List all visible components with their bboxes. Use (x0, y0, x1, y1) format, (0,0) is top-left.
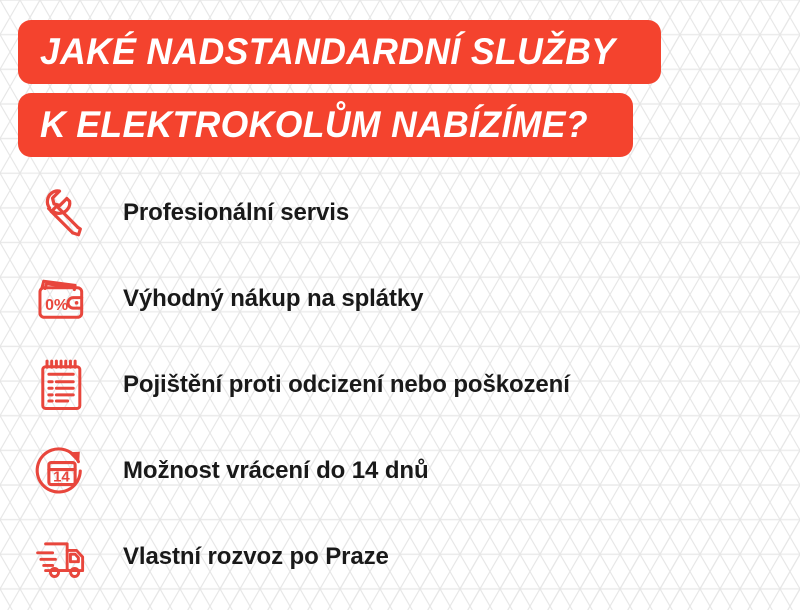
headline-text-line-1: JAKÉ NADSTANDARDNÍ SLUŽBY (40, 33, 615, 70)
feature-row-service: Profesionální servis (0, 170, 800, 256)
return-icon-text: 14 (53, 468, 70, 485)
feature-label-return: Možnost vrácení do 14 dnů (123, 458, 429, 484)
feature-label-installments: Výhodný nákup na splátky (123, 286, 423, 312)
feature-label-delivery: Vlastní rozvoz po Praze (123, 544, 389, 570)
notepad-list-icon (30, 353, 94, 417)
feature-row-installments: 0% Výhodný nákup na splátky (0, 256, 800, 342)
return-14-days-icon: 14 (30, 439, 94, 503)
feature-list: Profesionální servis 0% (0, 170, 800, 600)
wallet-zero-percent-icon: 0% (30, 267, 94, 331)
feature-label-insurance: Pojištění proti odcizení nebo poškození (123, 372, 570, 398)
feature-label-service: Profesionální servis (123, 200, 349, 226)
wallet-icon-text: 0% (45, 297, 68, 314)
feature-row-delivery: Vlastní rozvoz po Praze (0, 514, 800, 600)
feature-row-return: 14 Možnost vrácení do 14 dnů (0, 428, 800, 514)
poster-content: JAKÉ NADSTANDARDNÍ SLUŽBY K ELEKTROKOLŮM… (0, 0, 800, 610)
headline-text-line-2: K ELEKTROKOLŮM NABÍZÍME? (40, 106, 588, 143)
headline-banner-line-2: K ELEKTROKOLŮM NABÍZÍME? (18, 93, 633, 157)
headline-banner-line-1: JAKÉ NADSTANDARDNÍ SLUŽBY (18, 20, 661, 84)
delivery-truck-icon (30, 525, 94, 589)
wrench-icon (30, 181, 94, 245)
feature-row-insurance: Pojištění proti odcizení nebo poškození (0, 342, 800, 428)
